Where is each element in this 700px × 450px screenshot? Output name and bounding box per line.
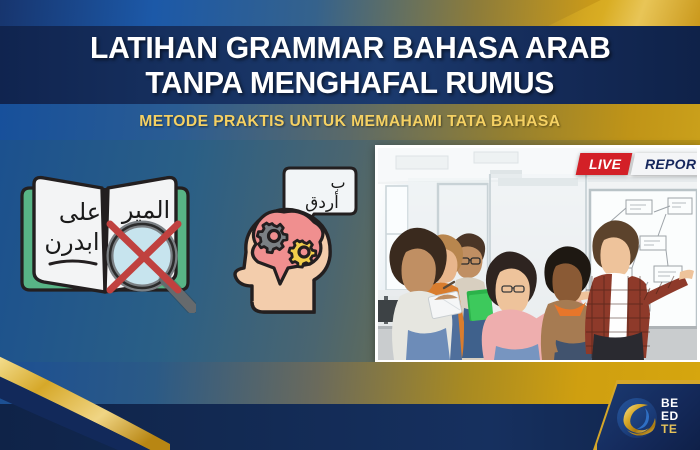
page-subtitle: METODE PRAKTIS UNTUK MEMAHAMI TATA BAHAS… (139, 113, 560, 131)
book-left-text-2: ابدرن (44, 228, 99, 256)
promo-poster: LATIHAN GRAMMAR BAHASA ARAB TANPA MENGHA… (0, 0, 700, 450)
live-label-chip: LIVE (576, 153, 633, 175)
open-book-icon: على ابدرن المير (14, 158, 196, 313)
brain-gears-illustration: ب أردق (218, 160, 358, 320)
head-profile-icon: ب أردق (218, 160, 358, 320)
brand-logo-text: BE ED TE (661, 397, 679, 436)
gold-ribbon-icon (0, 332, 260, 450)
bubble-text-2: أردق (305, 191, 339, 213)
subtitle-band: METODE PRAKTIS UNTUK MEMAHAMI TATA BAHAS… (0, 104, 700, 140)
title-band: LATIHAN GRAMMAR BAHASA ARAB TANPA MENGHA… (0, 26, 700, 104)
page-title-line-2: TANPA MENGHAFAL RUMUS (146, 65, 555, 100)
book-right-text-1: المير (121, 196, 170, 224)
report-label: REPORT (645, 156, 697, 172)
page-title-line-1: LATIHAN GRAMMAR BAHASA ARAB (90, 30, 611, 65)
bubble-text-1: ب (330, 173, 345, 192)
classroom-photo-image: LIVE REPORT (378, 148, 697, 360)
classroom-photo: LIVE REPORT (375, 145, 700, 363)
book-left-text-1: على (59, 198, 101, 226)
top-accent-strip (0, 0, 700, 28)
live-report-badge: LIVE REPORT (578, 153, 697, 175)
live-label: LIVE (589, 156, 621, 172)
gold-swoosh-decoration (0, 332, 260, 450)
brand-line-3: TE (661, 423, 679, 436)
report-label-chip: REPORT (631, 153, 697, 175)
brand-emblem-icon (615, 396, 659, 440)
open-book-illustration: على ابدرن المير (14, 158, 196, 313)
students-whiteboard-scene (378, 148, 697, 360)
